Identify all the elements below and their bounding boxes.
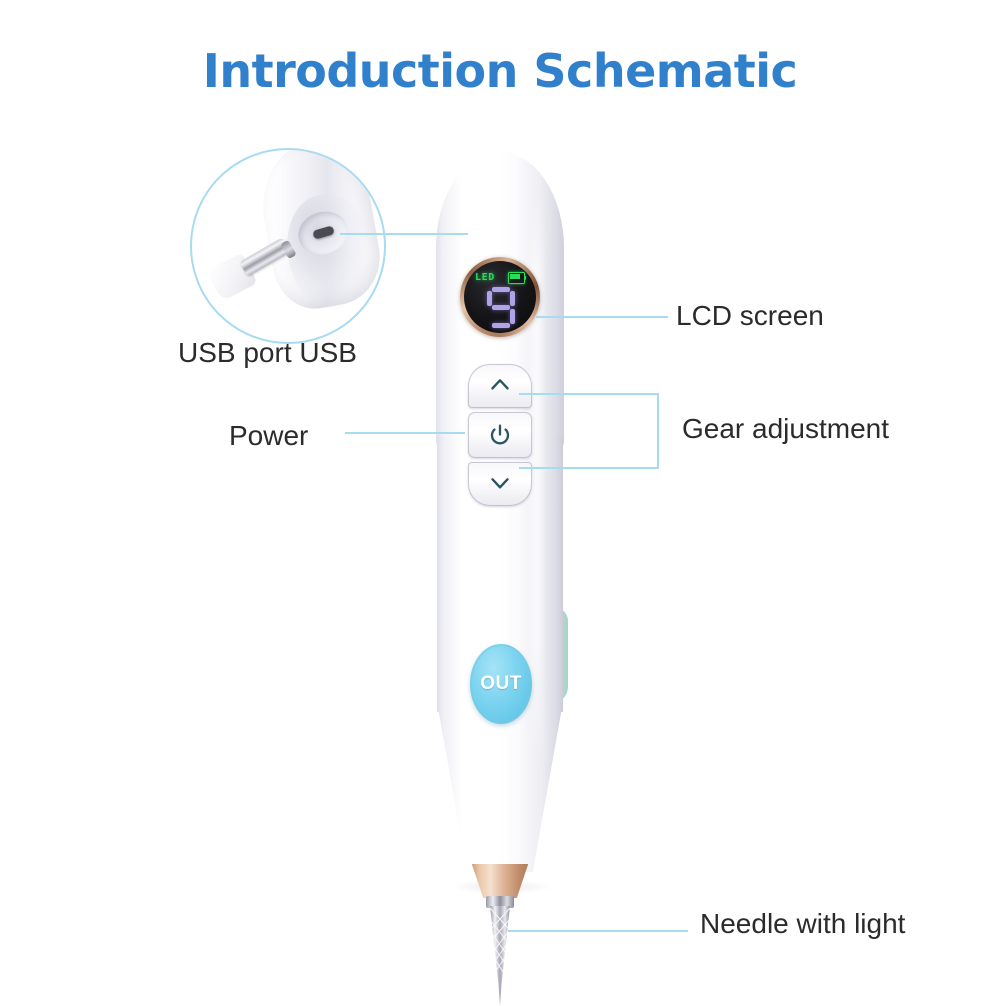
callout-label-gear-adjustment: Gear adjustment	[682, 413, 889, 445]
battery-fill	[510, 274, 520, 279]
power-icon	[488, 423, 512, 447]
out-button-label: OUT	[480, 673, 522, 695]
callout-label-lcd-screen: LCD screen	[676, 300, 824, 332]
battery-icon	[508, 272, 525, 284]
leader-bracket-gear-bottom	[519, 467, 659, 469]
callout-label-usb-port: USB port USB	[178, 337, 357, 369]
callout-label-needle-with-light: Needle with light	[700, 908, 905, 940]
segment-b	[510, 291, 515, 306]
lcd-bezel-ring: LED	[460, 257, 540, 337]
leader-bracket-gear-spine	[657, 393, 659, 469]
chevron-down-icon	[489, 471, 512, 494]
device-lower-taper	[437, 702, 563, 872]
out-button[interactable]: OUT	[470, 644, 532, 724]
leader-line-power	[345, 432, 465, 434]
lcd-gear-digit	[486, 287, 516, 329]
power-button[interactable]	[468, 412, 532, 458]
lcd-screen[interactable]: LED	[464, 261, 536, 333]
segment-g	[492, 305, 510, 310]
segment-f	[487, 291, 492, 306]
page-title: Introduction Schematic	[0, 44, 1000, 98]
leader-bracket-gear-top	[519, 393, 659, 395]
leader-line-lcd	[536, 316, 668, 318]
needle-with-light	[486, 906, 514, 1006]
leader-line-usb	[340, 233, 468, 235]
leader-line-needle	[508, 930, 688, 932]
segment-a	[492, 287, 510, 292]
gear-up-button[interactable]	[468, 364, 532, 408]
segment-c	[510, 309, 515, 324]
device-body: LED	[424, 152, 576, 892]
schematic-canvas: Introduction Schematic LED	[0, 0, 1000, 1000]
usb-port-closeup-circle	[190, 148, 386, 344]
chevron-up-icon	[489, 373, 512, 396]
segment-d	[492, 323, 510, 328]
callout-label-power: Power	[229, 420, 308, 452]
lcd-led-label: LED	[475, 272, 495, 283]
